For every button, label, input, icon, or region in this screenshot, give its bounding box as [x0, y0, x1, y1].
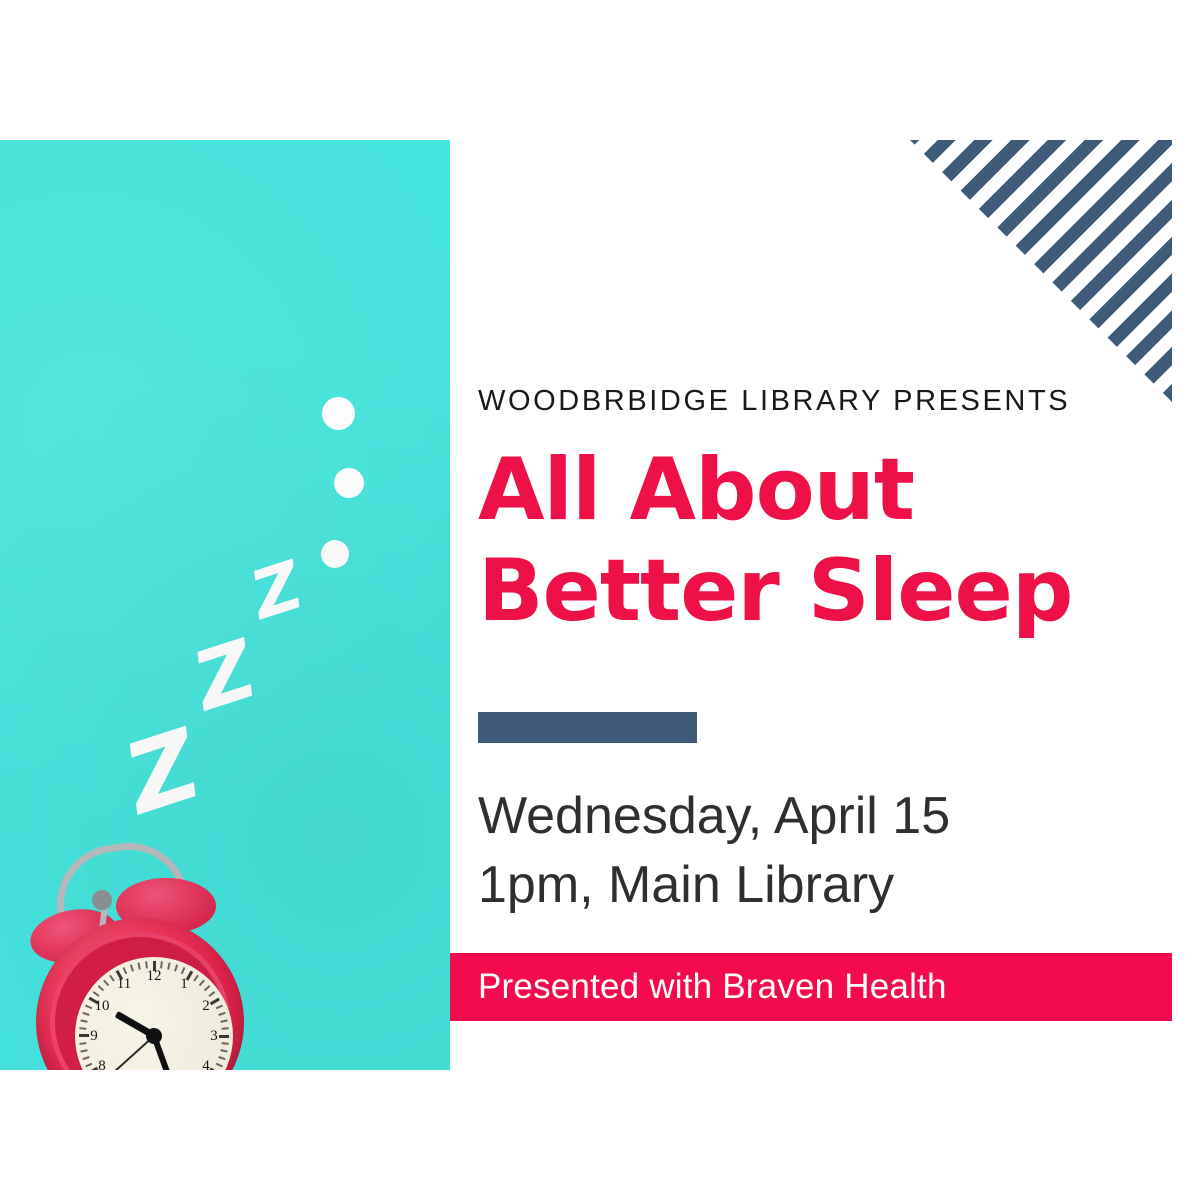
- headline-line-2: Better Sleep: [478, 541, 1158, 642]
- divider-bar: [478, 712, 697, 743]
- clock-tick: [218, 1056, 225, 1060]
- presenter-eyebrow: WOODBRBIDGE LIBRARY PRESENTS: [478, 385, 1070, 418]
- clock-numeral: 11: [115, 975, 133, 993]
- clock-tick: [208, 991, 215, 997]
- clock-numeral: 8: [93, 1057, 111, 1070]
- clock-tick: [216, 1063, 223, 1068]
- page-title: All About Better Sleep: [478, 440, 1158, 643]
- clock-tick: [174, 964, 178, 971]
- clock-tick: [103, 980, 109, 987]
- sleep-dot-icon: [321, 540, 349, 568]
- sleep-z-medium-icon: Z: [185, 629, 265, 723]
- clock-tick: [109, 975, 115, 982]
- sleep-dot-icon: [334, 468, 364, 498]
- clock-face: 121234567891011: [75, 957, 233, 1070]
- clock-tick: [220, 1019, 227, 1022]
- clock-numeral: 4: [197, 1057, 215, 1070]
- clock-numeral: 9: [85, 1027, 103, 1045]
- clock-tick: [80, 1019, 87, 1022]
- clock-numeral: 12: [145, 967, 163, 985]
- event-details: Wednesday, April 15 1pm, Main Library: [478, 782, 1118, 920]
- event-location: 1pm, Main Library: [478, 851, 1118, 920]
- clock-numeral: 2: [197, 997, 215, 1015]
- clock-numeral: 1: [175, 975, 193, 993]
- clock-tick: [82, 1012, 89, 1016]
- clock-tick: [82, 1056, 89, 1060]
- sponsor-banner: Presented with Braven Health: [450, 953, 1172, 1021]
- event-date: Wednesday, April 15: [478, 782, 1118, 851]
- clock-rim: 121234567891011: [50, 932, 230, 1070]
- clock-numeral: 10: [93, 997, 111, 1015]
- clock-tick: [123, 967, 128, 974]
- clock-striker-knob: [92, 890, 112, 910]
- clock-tick: [204, 985, 211, 991]
- clock-tick: [181, 967, 186, 974]
- alarm-clock-icon: 121234567891011: [8, 838, 270, 1070]
- clock-tick: [167, 962, 170, 969]
- clock-tick: [220, 1049, 227, 1052]
- clock-tick: [137, 962, 140, 969]
- clock-tick: [193, 975, 199, 982]
- clock-tick: [216, 1005, 223, 1010]
- event-flyer: Z Z Z 12: [0, 0, 1200, 1200]
- clock-tick: [93, 991, 100, 997]
- clock-tick: [85, 1005, 92, 1010]
- sleep-z-small-icon: Z: [244, 552, 310, 630]
- clock-tick: [199, 980, 205, 987]
- sponsor-text: Presented with Braven Health: [478, 967, 947, 1007]
- sleep-z-large-icon: Z: [115, 716, 211, 829]
- clock-tick: [98, 985, 105, 991]
- clock-tick: [85, 1063, 92, 1068]
- clock-tick: [130, 964, 134, 971]
- clock-numeral: 3: [205, 1027, 223, 1045]
- clock-tick: [218, 1012, 225, 1016]
- clock-tick: [80, 1049, 87, 1052]
- clock-photo-panel: Z Z Z 12: [0, 140, 450, 1070]
- sleep-dot-icon: [322, 397, 355, 430]
- clock-center-pin: [146, 1028, 162, 1044]
- headline-line-1: All About: [478, 440, 1158, 541]
